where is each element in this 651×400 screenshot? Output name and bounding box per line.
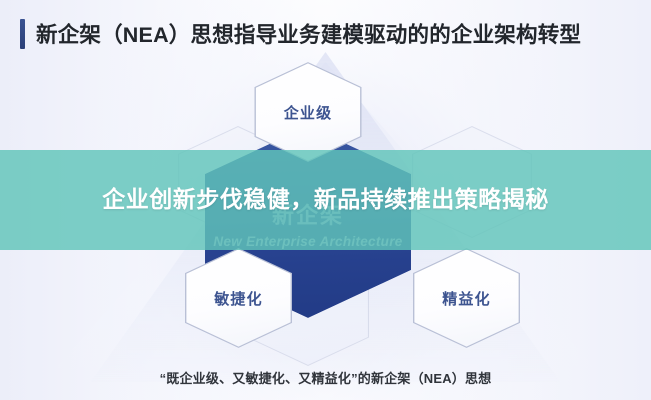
hexagon-right-label: 精益化 — [442, 288, 491, 309]
overlay-banner: 企业创新步伐稳健，新品持续推出策略揭秘 — [0, 150, 651, 250]
title-accent-bar — [20, 19, 25, 49]
title-text: 新企架（NEA）思想指导业务建模驱动的的企业架构转型 — [36, 18, 581, 49]
overlay-banner-text: 企业创新步伐稳健，新品持续推出策略揭秘 — [102, 184, 549, 215]
page-title: 新企架（NEA）思想指导业务建模驱动的的企业架构转型 — [20, 18, 581, 49]
hexagon-top-label: 企业级 — [284, 102, 333, 123]
diagram-caption: “既企业级、又敏捷化、又精益化”的新企架（NEA）思想 — [0, 368, 651, 387]
slide-image: 新企架（NEA）思想指导业务建模驱动的的企业架构转型 新企架 New Enter… — [0, 0, 651, 400]
hexagon-left-label: 敏捷化 — [214, 288, 263, 309]
